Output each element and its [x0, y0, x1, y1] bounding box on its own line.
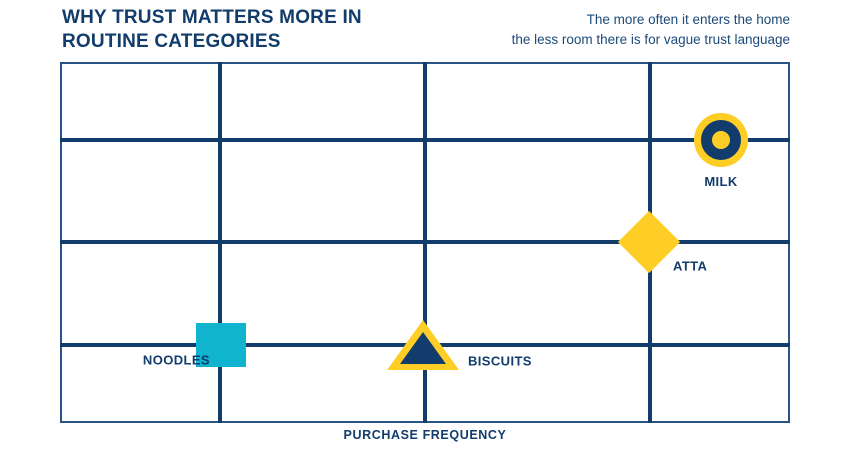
data-label-biscuits: BISCUITS [468, 354, 532, 369]
data-point-milk[interactable] [694, 113, 748, 167]
triangle-inner-shape [400, 332, 446, 364]
chart-subtitle-line-1: The more often it enters the home [370, 10, 790, 30]
chart-subtitle: The more often it enters the home the le… [370, 10, 790, 51]
data-label-atta: ATTA [673, 259, 707, 274]
gridline-vertical [218, 62, 222, 423]
x-axis-label: PURCHASE FREQUENCY [60, 428, 790, 442]
data-label-noodles: NOODLES [143, 353, 210, 368]
data-label-milk: MILK [704, 174, 737, 189]
plot-area: NOODLES BISCUITS ATTA MILK [60, 62, 790, 423]
chart-subtitle-line-2: the less room there is for vague trust l… [370, 30, 790, 50]
chart-canvas: WHY TRUST MATTERS MORE IN ROUTINE CATEGO… [0, 0, 850, 450]
data-point-biscuits[interactable] [387, 320, 459, 370]
